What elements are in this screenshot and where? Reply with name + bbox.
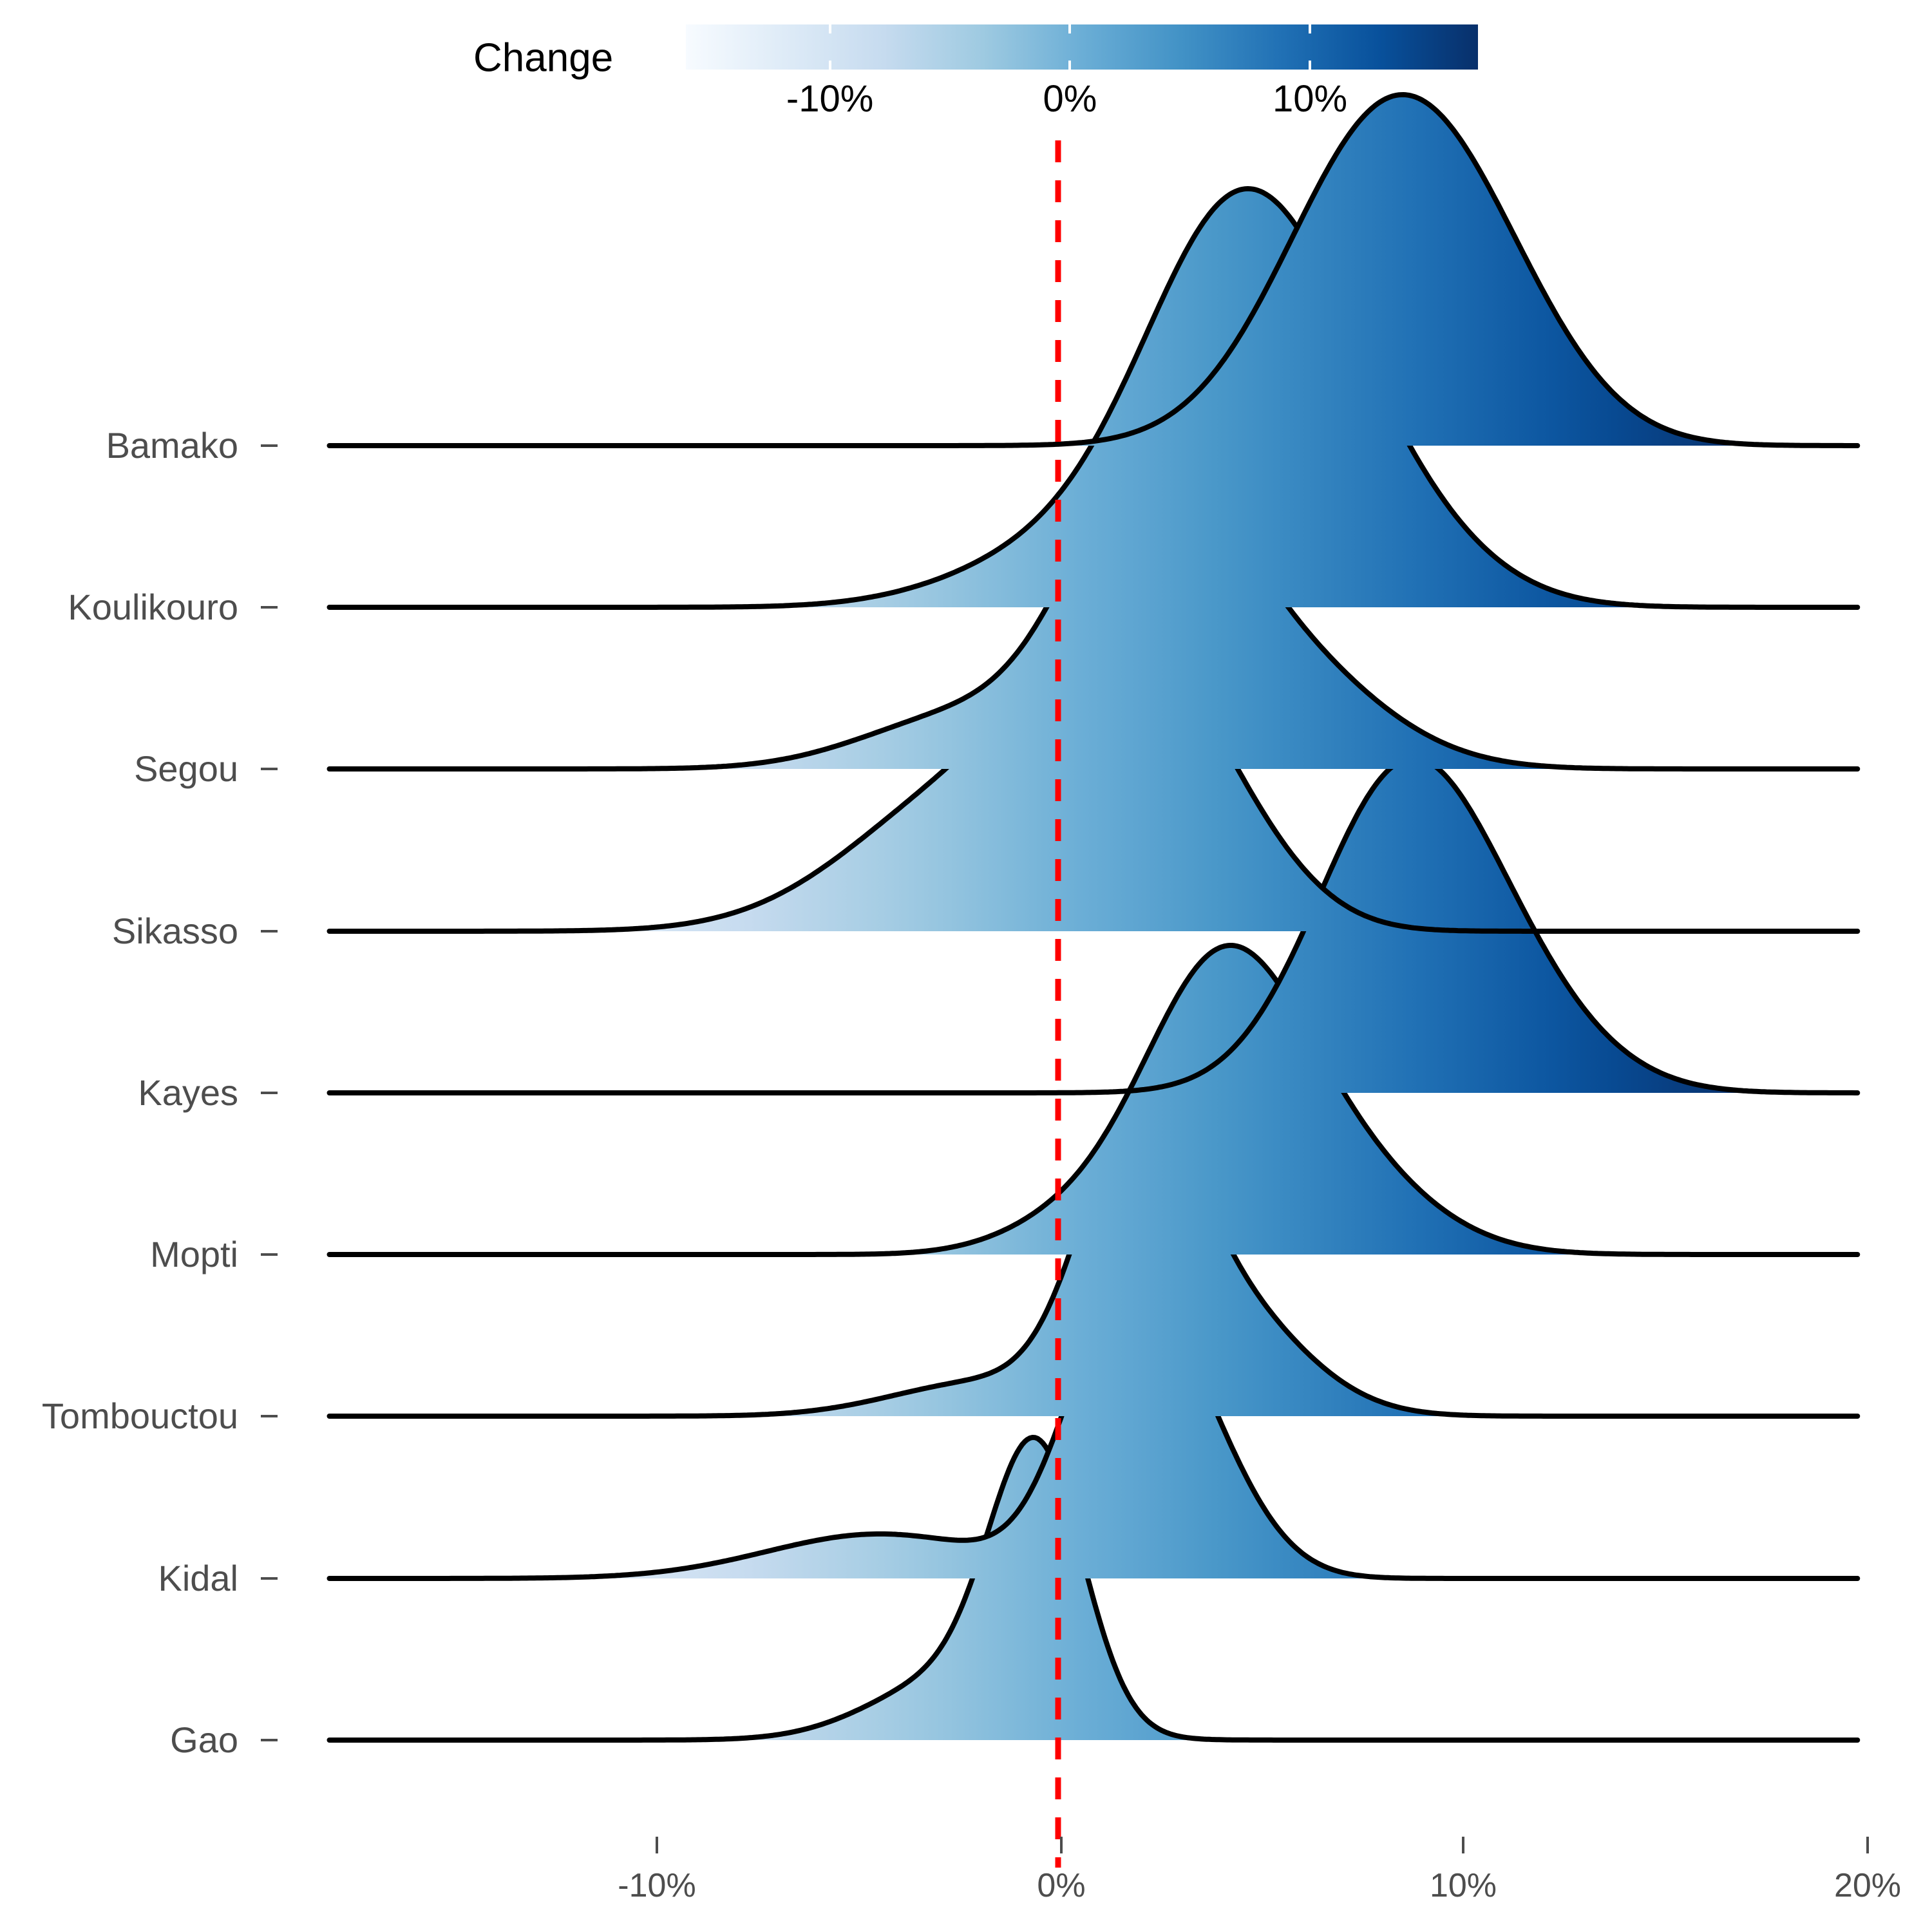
y-axis-tick <box>261 768 278 770</box>
y-axis-label-kayes: Kayes <box>138 1075 238 1111</box>
ridge-group <box>330 95 1858 1740</box>
y-axis-label-mopti: Mopti <box>150 1236 238 1273</box>
y-axis-label-kidal: Kidal <box>158 1560 238 1596</box>
y-axis-label-bamako: Bamako <box>106 428 238 464</box>
ridge-area-mopti <box>330 945 1858 1255</box>
ridge-outline-bamako <box>330 95 1858 446</box>
y-axis-label-sikasso: Sikasso <box>112 913 238 949</box>
x-axis-label-1: 0% <box>965 1866 1158 1905</box>
y-axis-tick <box>261 1739 278 1741</box>
y-axis-label-segou: Segou <box>134 751 238 787</box>
y-axis-label-tombouctou: Tombouctou <box>42 1398 238 1434</box>
ridge-area-koulikouro <box>330 189 1858 607</box>
x-axis-tick <box>1060 1837 1063 1853</box>
ridge-area-bamako <box>330 95 1858 446</box>
x-axis-tick <box>1866 1837 1869 1853</box>
y-axis-tick <box>261 1577 278 1580</box>
x-axis-label-3: 20% <box>1771 1866 1932 1905</box>
ridgeline-chart: Change -10%0%10% BamakoKoulikouroSegouSi… <box>0 0 1932 1932</box>
y-axis-tick <box>261 1253 278 1256</box>
y-axis-tick <box>261 1092 278 1094</box>
ridgeline-plot-area <box>0 0 1932 1932</box>
x-axis-tick <box>1462 1837 1464 1853</box>
y-axis-tick <box>261 606 278 609</box>
y-axis-tick <box>261 444 278 447</box>
y-axis-label-koulikouro: Koulikouro <box>68 589 238 625</box>
x-axis-label-2: 10% <box>1367 1866 1560 1905</box>
y-axis-tick <box>261 1415 278 1417</box>
x-axis-tick <box>656 1837 658 1853</box>
y-axis-tick <box>261 930 278 933</box>
x-axis-label-0: -10% <box>560 1866 753 1905</box>
y-axis-label-gao: Gao <box>170 1722 238 1758</box>
